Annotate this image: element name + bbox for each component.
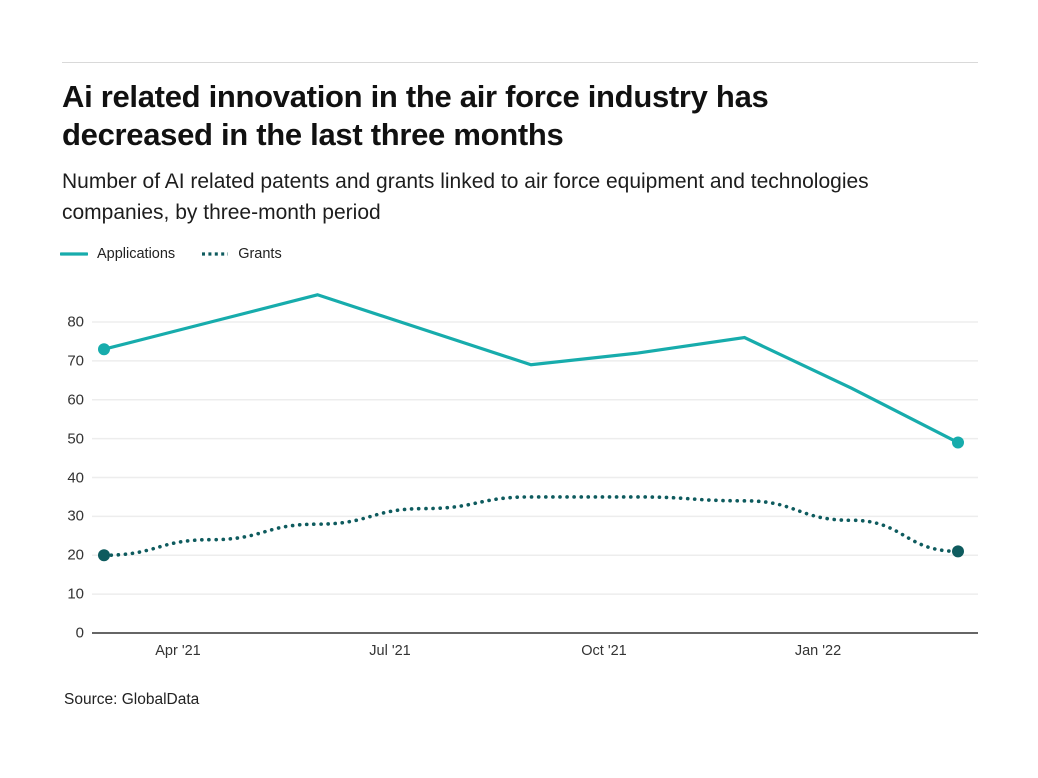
series-applications	[98, 295, 964, 449]
legend-item-grants[interactable]: Grants	[201, 243, 282, 265]
series-grants	[98, 497, 964, 561]
chart-page: Ai related innovation in the air force i…	[0, 0, 1038, 778]
legend-item-applications[interactable]: Applications	[60, 243, 175, 265]
x-axis-tick-2: Oct '21	[581, 643, 626, 659]
x-axis-tick-3: Jan '22	[795, 643, 841, 659]
line-grants	[104, 497, 958, 555]
y-axis-tick-20: 20	[44, 547, 84, 564]
data-point-marker	[952, 545, 964, 557]
line-applications	[104, 295, 958, 443]
source-note: Source: GlobalData	[64, 691, 199, 709]
y-axis-tick-0: 0	[44, 625, 84, 642]
chart-legend: Applications Grants	[60, 243, 282, 265]
page-title: Ai related innovation in the air force i…	[62, 78, 922, 154]
legend-line-dotted-icon	[201, 248, 229, 260]
chart-subtitle: Number of AI related patents and grants …	[62, 166, 962, 228]
legend-line-solid-icon	[60, 248, 88, 260]
x-axis-tick-1: Jul '21	[369, 643, 410, 659]
y-axis-tick-60: 60	[44, 391, 84, 408]
x-axis-tick-0: Apr '21	[155, 643, 201, 659]
data-point-marker	[98, 549, 110, 561]
data-point-marker	[952, 437, 964, 449]
y-axis-tick-40: 40	[44, 469, 84, 486]
legend-label-applications: Applications	[97, 246, 175, 262]
top-divider	[62, 62, 978, 63]
y-axis-tick-80: 80	[44, 314, 84, 331]
y-axis-tick-10: 10	[44, 586, 84, 603]
gridlines	[92, 322, 978, 594]
legend-label-grants: Grants	[238, 246, 282, 262]
y-axis-tick-50: 50	[44, 430, 84, 447]
y-axis-tick-70: 70	[44, 352, 84, 369]
y-axis-tick-30: 30	[44, 508, 84, 525]
data-point-marker	[98, 343, 110, 355]
